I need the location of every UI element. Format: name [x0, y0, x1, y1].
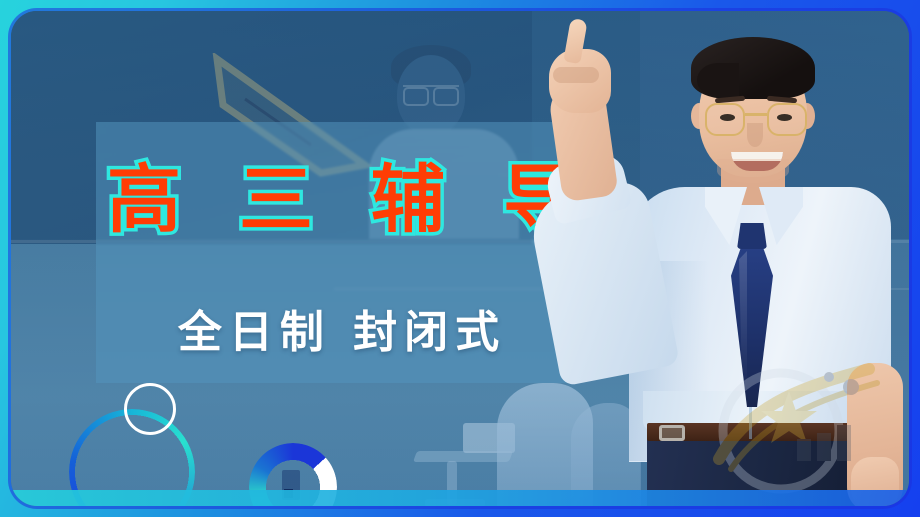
- poster-root: 高 三 辅 导 全日制 封闭式: [0, 0, 920, 517]
- subtitle-text: 全日制 封闭式: [107, 296, 577, 360]
- teacher-nose: [747, 123, 763, 147]
- headline-char-2: 三: [239, 163, 313, 237]
- glasses-lens-right: [767, 103, 807, 136]
- teacher-knuckles: [553, 67, 599, 83]
- headline-title: 高 三 辅 导: [107, 163, 577, 237]
- glasses-lens-left: [705, 103, 745, 136]
- teacher-tie-knot: [737, 223, 767, 249]
- glasses-bridge: [745, 113, 767, 116]
- teacher-belt-buckle: [659, 425, 685, 441]
- headline-char-3: 辅: [371, 163, 445, 237]
- headline-char-1: 高: [107, 163, 181, 237]
- poster-stage: 高 三 辅 导 全日制 封闭式: [11, 11, 909, 506]
- teacher-resting-hand: [847, 363, 903, 506]
- decor-ring-small: [124, 383, 176, 435]
- teacher-chin: [717, 159, 789, 183]
- teacher-figure: [509, 11, 909, 506]
- teacher-hair: [691, 37, 815, 99]
- bottom-glow-strip: [11, 490, 909, 506]
